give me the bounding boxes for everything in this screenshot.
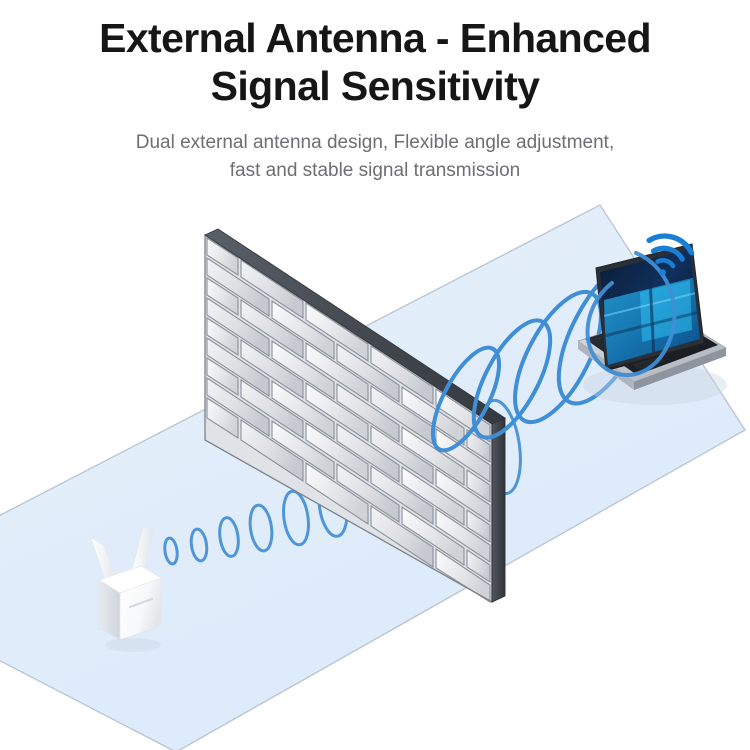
subtitle-line-1: Dual external antenna design, Flexible a… xyxy=(70,129,680,157)
subtitle-line-2: fast and stable signal transmission xyxy=(70,157,680,185)
page-title: External Antenna - Enhanced Signal Sensi… xyxy=(0,14,750,111)
title-line-2: Signal Sensitivity xyxy=(26,62,724,110)
product-illustration-stage: External Antenna - Enhanced Signal Sensi… xyxy=(0,0,750,750)
headline-block: External Antenna - Enhanced Signal Sensi… xyxy=(0,0,750,185)
page-subtitle: Dual external antenna design, Flexible a… xyxy=(0,129,750,185)
title-line-1: External Antenna - Enhanced xyxy=(99,15,651,61)
